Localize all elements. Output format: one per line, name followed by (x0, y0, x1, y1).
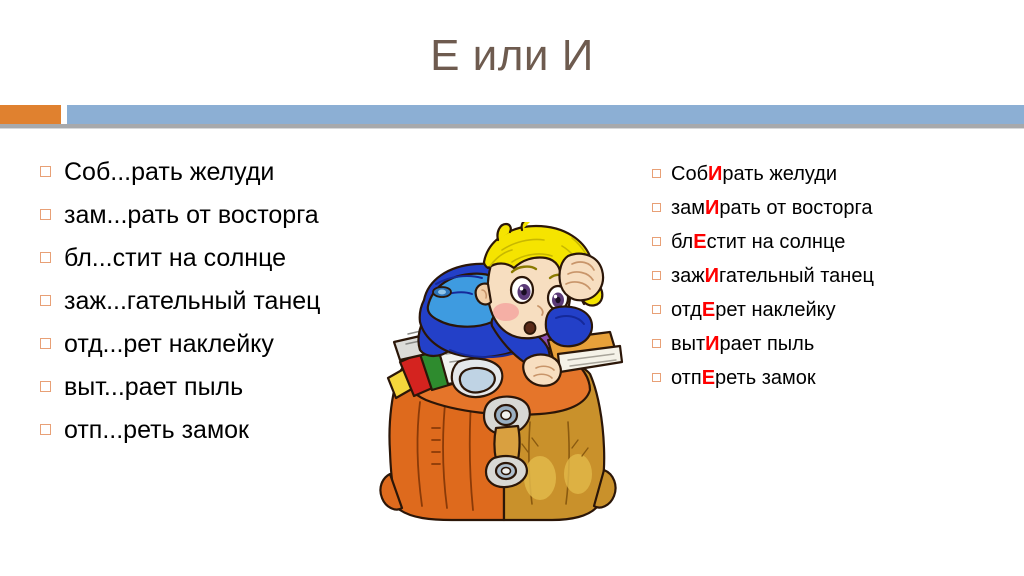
bullet-square-icon (652, 203, 661, 212)
bullet-square-icon (652, 339, 661, 348)
list-item: зам...рать от восторга (40, 198, 400, 233)
list-item-label: Соб...рать желуди (64, 155, 400, 190)
answer-letter: И (705, 265, 719, 287)
answer-item-label: вытИрает пыль (671, 330, 1002, 359)
bullet-square-icon (40, 209, 51, 220)
list-item: заж...гательный танец (40, 284, 400, 319)
list-item: отдЕрет наклейку (652, 296, 1002, 325)
bullet-square-icon (652, 271, 661, 280)
answer-item-label: отдЕрет наклейку (671, 296, 1002, 325)
slide-canvas: Е или И Соб...рать желуди зам...рать от … (0, 0, 1024, 576)
bullet-square-icon (40, 338, 51, 349)
bullet-square-icon (652, 237, 661, 246)
list-item: Соб...рать желуди (40, 155, 400, 190)
answer-item-label: блЕстит на солнце (671, 228, 1002, 257)
page-title: Е или И (0, 30, 1024, 82)
divider-shadow-light (0, 128, 1024, 129)
list-item: замИрать от восторга (652, 194, 1002, 223)
answer-list-right: СобИрать желуди замИрать от восторга блЕ… (652, 160, 1002, 398)
answer-letter: И (705, 333, 719, 355)
exercise-list-left: Соб...рать желуди зам...рать от восторга… (40, 155, 400, 456)
list-item: бл...стит на солнце (40, 241, 400, 276)
list-item: выт...рает пыль (40, 370, 400, 405)
list-item: вытИрает пыль (652, 330, 1002, 359)
answer-item-label: отпЕреть замок (671, 364, 1002, 393)
list-item: отд...рет наклейку (40, 327, 400, 362)
answer-item-label: зажИгательный танец (671, 262, 1002, 291)
list-item-label: бл...стит на солнце (64, 241, 400, 276)
list-item: отпЕреть замок (652, 364, 1002, 393)
bullet-square-icon (40, 252, 51, 263)
answer-letter: И (708, 163, 722, 185)
answer-item-label: СобИрать желуди (671, 160, 1002, 189)
list-item-label: отд...рет наклейку (64, 327, 400, 362)
list-item: отп...реть замок (40, 413, 400, 448)
answer-letter: Е (693, 231, 706, 253)
divider-bar-blue (67, 105, 1024, 124)
bullet-square-icon (652, 169, 661, 178)
list-item-label: зам...рать от восторга (64, 198, 400, 233)
answer-letter: Е (702, 367, 715, 389)
bullet-square-icon (40, 381, 51, 392)
bullet-square-icon (40, 295, 51, 306)
divider-bar-orange (0, 105, 61, 124)
bullet-square-icon (652, 305, 661, 314)
boy-on-backpack-clipart (372, 222, 624, 522)
list-item: блЕстит на солнце (652, 228, 1002, 257)
list-item-label: выт...рает пыль (64, 370, 400, 405)
bullet-square-icon (652, 373, 661, 382)
list-item: СобИрать желуди (652, 160, 1002, 189)
list-item-label: заж...гательный танец (64, 284, 400, 319)
answer-item-label: замИрать от восторга (671, 194, 1002, 223)
answer-letter: И (705, 197, 719, 219)
bullet-square-icon (40, 424, 51, 435)
bullet-square-icon (40, 166, 51, 177)
list-item: зажИгательный танец (652, 262, 1002, 291)
answer-letter: Е (702, 299, 715, 321)
list-item-label: отп...реть замок (64, 413, 400, 448)
